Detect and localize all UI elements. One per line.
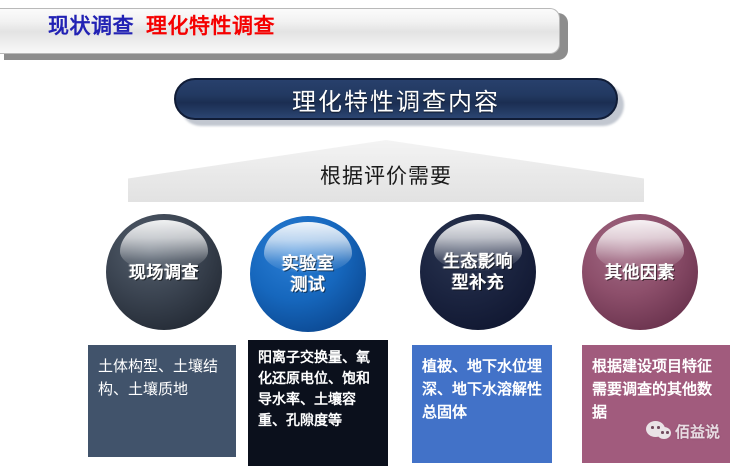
category-box-eco-impact: 植被、地下水位埋深、地下水溶解性总固体 xyxy=(412,345,552,463)
category-box-other-factors: 根据建设项目特征需要调查的其他数据 xyxy=(582,345,730,463)
watermark-label: 佰益说 xyxy=(675,421,720,442)
sphere-label: 实验室测试 xyxy=(282,253,335,295)
header-title-primary: 现状调查 xyxy=(48,15,134,38)
category-sphere-eco-impact[interactable]: 生态影响型补充 xyxy=(420,214,536,330)
title-banner: 理化特性调查内容 xyxy=(174,78,618,120)
arrow-label: 根据评价需要 xyxy=(128,160,644,190)
title-banner-label: 理化特性调查内容 xyxy=(292,82,500,117)
sphere-label-line2: 测试 xyxy=(291,275,326,294)
header-title-secondary: 理化特性调查 xyxy=(146,15,275,38)
category-box-lab-test: 阳离子交换量、氧化还原电位、饱和导水率、土壤容重、孔隙度等 xyxy=(248,340,388,466)
category-sphere-lab-test[interactable]: 实验室测试 xyxy=(250,216,366,332)
sphere-label: 其他因素 xyxy=(605,262,675,283)
category-box-field-survey: 土体构型、土壤结构、土壤质地 xyxy=(88,345,236,457)
category-sphere-other-factors[interactable]: 其他因素 xyxy=(582,214,698,330)
sphere-label-line1: 生态影响 xyxy=(443,252,513,271)
watermark: 佰益说 xyxy=(646,420,720,442)
header-title: 现状调查理化特性调查 xyxy=(48,14,275,40)
sphere-label: 现场调查 xyxy=(129,262,199,283)
category-sphere-field-survey[interactable]: 现场调查 xyxy=(106,214,222,330)
slide-canvas: 现状调查理化特性调查 理化特性调查内容 根据评价需要 现场调查 实验室测试 生态… xyxy=(0,0,752,469)
sphere-label: 生态影响型补充 xyxy=(443,251,513,293)
wechat-icon xyxy=(646,420,672,442)
sphere-label-line1: 实验室 xyxy=(282,254,335,273)
sphere-label-line2: 型补充 xyxy=(452,273,505,292)
